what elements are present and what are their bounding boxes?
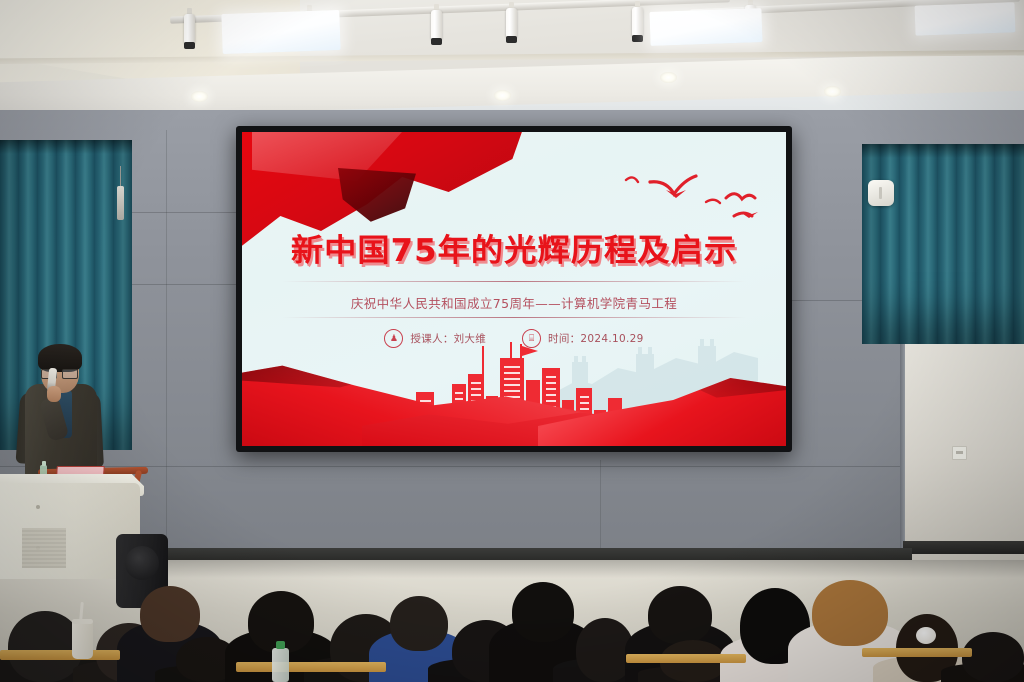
audience-member-head	[390, 596, 448, 651]
slide-subtitle: 庆祝中华人民共和国成立75周年——计算机学院青马工程	[242, 293, 786, 312]
desk-surface	[236, 662, 386, 672]
curtain-hanging-device	[117, 186, 124, 220]
podium-button[interactable]	[36, 505, 40, 509]
divider-bottom	[282, 317, 746, 318]
glasses-icon	[41, 369, 78, 377]
silk-ribbon-fold	[338, 168, 416, 224]
ceiling-panel-light	[221, 10, 340, 54]
presenter-hand	[47, 386, 61, 402]
ceiling-downlight	[494, 90, 511, 101]
wall-seam-vertical	[166, 130, 167, 550]
baseboard	[903, 541, 1024, 554]
audience-member-head	[812, 580, 888, 646]
desk-surface	[0, 650, 120, 660]
water-bottle-icon	[272, 648, 289, 682]
audience-member-head	[512, 582, 574, 642]
desk-surface	[862, 648, 972, 657]
hair-scrunchie	[916, 627, 936, 644]
track-spotlight-icon	[184, 14, 195, 44]
screen-content: 新中国75年的光辉历程及启示 庆祝中华人民共和国成立75周年——计算机学院青马工…	[242, 132, 786, 446]
ceiling-downlight	[191, 91, 208, 102]
curtain-right	[862, 144, 1024, 344]
presentation-screen[interactable]: 新中国75年的光辉历程及启示 庆祝中华人民共和国成立75周年——计算机学院青马工…	[236, 126, 792, 452]
ceiling-panel-light	[915, 2, 1016, 35]
audience-member-head	[140, 586, 200, 642]
track-spotlight-icon	[431, 10, 442, 40]
lecture-hall-scene: 新中国75年的光辉历程及启示 庆祝中华人民共和国成立75周年——计算机学院青马工…	[0, 0, 1024, 682]
ceiling-downlight	[824, 86, 841, 97]
ceiling-downlight	[660, 72, 677, 83]
presenter-hair	[38, 344, 82, 372]
wall-speaker-icon	[868, 180, 894, 206]
curtain-shadow	[0, 140, 132, 154]
audience-member-head	[962, 632, 1024, 682]
power-outlet-icon	[952, 446, 967, 460]
audience-member-head	[8, 611, 82, 682]
podium-vent	[22, 528, 66, 568]
audience-member-head	[648, 586, 712, 644]
track-spotlight-icon	[632, 7, 643, 37]
slide-title: 新中国75年的光辉历程及启示	[242, 225, 786, 270]
desk-surface	[626, 654, 746, 663]
wall-seam-vertical	[600, 460, 601, 552]
track-spotlight-icon	[506, 8, 517, 38]
divider-top	[282, 281, 746, 282]
ceiling-panel-light	[649, 8, 762, 46]
tumbler-with-straw	[72, 619, 93, 659]
curtain-shadow	[862, 144, 1024, 158]
